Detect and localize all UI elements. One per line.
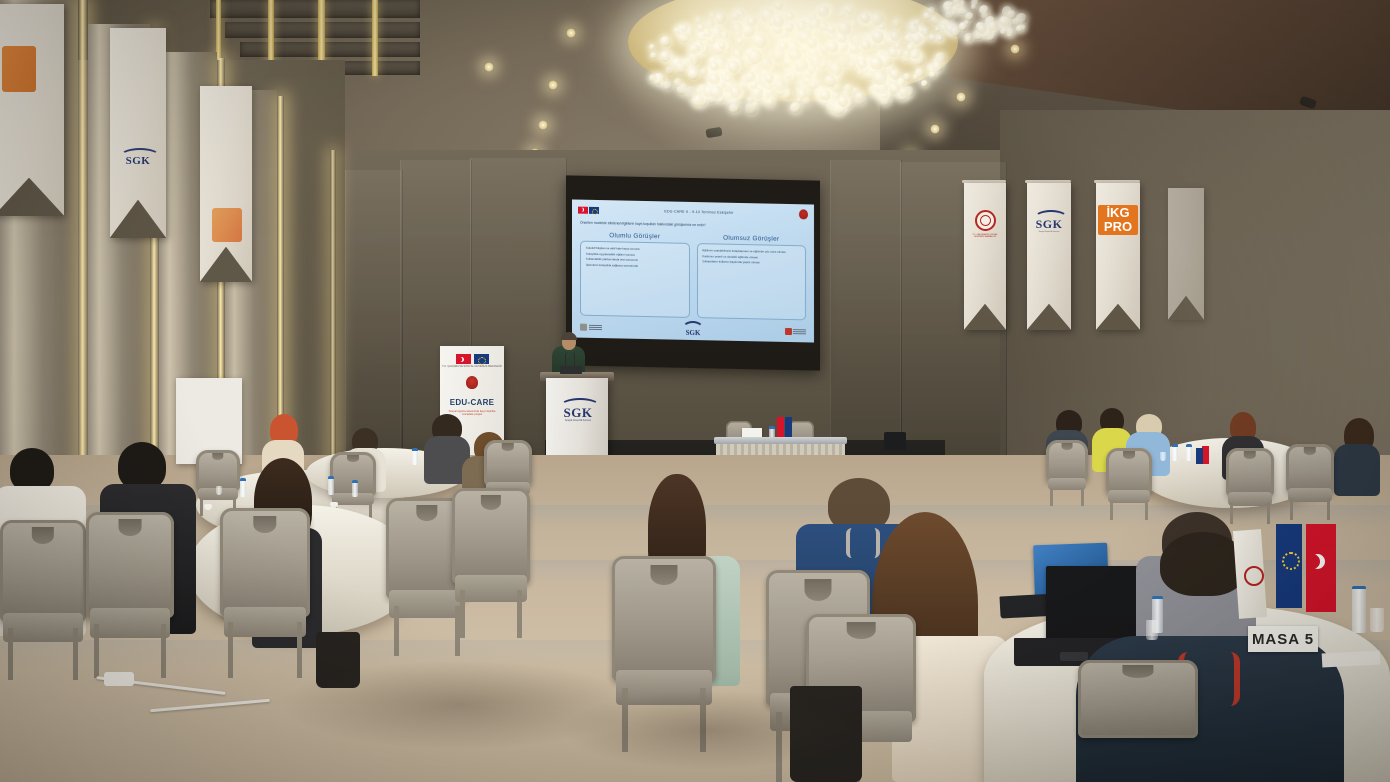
logo-text-lines <box>589 324 602 329</box>
chandelier-bulb <box>796 97 803 104</box>
ceiling-gold-strip <box>372 0 378 76</box>
chandelier-bulb <box>710 62 719 71</box>
turkish-desk-flag <box>777 417 784 439</box>
turkish-desk-flag <box>1202 446 1209 464</box>
slide-bullet-box: Kolektif bilgilenme aktif hale kayıp son… <box>580 241 690 318</box>
chandelier-bulb <box>748 50 762 64</box>
slide-footer-left-logo <box>580 323 602 330</box>
rollup-caption: T.C. ÇALIŞMA VE SOSYAL GÜVENLİK BAKANLIĞ… <box>442 366 502 369</box>
slide-emblem-icon <box>799 209 808 219</box>
slide-question: Önerilen modelde etkilenen/ilgililerin k… <box>580 221 806 230</box>
sgk-footer-text: SGK <box>686 329 701 337</box>
chandelier-bulb <box>725 76 731 82</box>
chandelier-bulb <box>753 34 767 48</box>
hanging-banner-sgk: SGK Sosyal Güvenlik Kurumu <box>1027 183 1071 330</box>
slide-column-negative: Olumsuz Görüşler Eğitimin uzatılabilmesi… <box>697 234 807 320</box>
slide-column-heading: Olumsuz Görüşler <box>697 234 807 243</box>
pillar-light-strip <box>330 150 336 470</box>
chandelier-bulb <box>872 31 884 43</box>
slide-bullet-box: Eğitimin uzatılabilmesi kolaylaşması ve … <box>697 243 807 320</box>
banquet-chair <box>1078 660 1198 782</box>
slide-columns: Olumlu Görüşler Kolektif bilgilenme akti… <box>580 232 806 321</box>
sgk-mark: SGK <box>120 148 156 166</box>
chandelier-bulb <box>737 38 744 45</box>
rollup-flags <box>456 354 489 364</box>
attendee-torso <box>1334 444 1380 496</box>
slide-header: EDU-CARE II - 9-10 Temmuz Eskişehir <box>578 204 808 221</box>
presentation-slide: EDU-CARE II - 9-10 Temmuz Eskişehir Öner… <box>572 199 814 342</box>
chandelier-bulb <box>704 30 712 38</box>
chandelier-bulb <box>929 71 936 78</box>
chandelier-bulb <box>745 72 756 83</box>
chandelier-bulb <box>848 61 856 69</box>
chandelier-bulb <box>861 40 871 50</box>
conference-hall-photo: SGK T.C. ÇALIŞMA VE SOSYAL GÜVENLİK BAKA… <box>0 0 1390 782</box>
chandelier-bulb <box>870 57 883 70</box>
floor-shadow <box>560 690 860 770</box>
table-sign-label: MASA 5 <box>1252 631 1314 648</box>
logo-text-lines <box>793 329 806 334</box>
chandelier-bulb <box>674 78 683 87</box>
chandelier-bulb <box>838 22 851 35</box>
chandelier-bulb <box>779 42 788 51</box>
turkish-flag-icon <box>456 354 471 364</box>
water-bottle <box>1352 586 1366 633</box>
drinking-glass <box>1370 608 1384 632</box>
slide-bullet: Çalışanların kullanıcı kaydında yapılır … <box>703 259 802 266</box>
ministry-emblem-icon <box>466 376 478 389</box>
drinking-glass <box>216 486 222 495</box>
chandelier-bulb <box>790 102 801 113</box>
chandelier-bulb <box>681 25 688 32</box>
chandelier-bulb <box>786 73 792 79</box>
power-adapter <box>104 672 134 686</box>
turkish-flag-crescent-icon <box>1310 554 1325 569</box>
water-bottle <box>240 478 246 497</box>
eu-flag-stars-icon <box>1282 552 1300 570</box>
banquet-chair <box>86 512 174 678</box>
chandelier-bulb <box>750 81 758 89</box>
chandelier-bulb <box>719 42 725 48</box>
chandelier-bulb <box>839 11 846 18</box>
wall-panel <box>345 170 403 470</box>
slide-bullet: İşlemlerin kolaylıkla sağlama sonrasında <box>586 262 685 269</box>
drinking-glass <box>1160 452 1166 461</box>
chandelier-bulb <box>950 26 961 37</box>
water-bottle <box>1172 444 1178 461</box>
chandelier-bulb <box>747 96 754 103</box>
sgk-banner-caption: Sosyal Güvenlik Kurumu <box>1034 231 1064 233</box>
chandelier-bulb <box>688 68 699 79</box>
eu-desk-flag <box>1196 448 1203 464</box>
banquet-chair <box>220 508 310 678</box>
water-bottle <box>328 476 334 495</box>
chandelier-bulb <box>761 58 773 70</box>
ikg-pro-logo: İKG PRO <box>1098 205 1138 235</box>
hanging-banner-left-ikg <box>0 4 64 216</box>
sgk-banner-logo: SGK <box>1034 218 1064 230</box>
head-table-top <box>714 437 847 444</box>
chandelier-bulb <box>838 96 849 107</box>
water-bottle <box>352 480 358 497</box>
water-bottle <box>412 448 418 465</box>
attendee-lanyard <box>846 528 880 558</box>
ministry-emblem-icon <box>975 210 996 231</box>
chandelier-bulb <box>700 68 708 76</box>
ceiling-coffer <box>240 42 420 57</box>
ministry-banner-caption: T.C. ÇALIŞMA VE SOSYAL GÜVENLİK BAKANLIĞ… <box>967 234 1003 239</box>
eu-desk-flag <box>785 417 792 439</box>
chandelier-bulb <box>665 66 674 75</box>
rollup-title: EDU-CARE <box>450 398 495 407</box>
chandelier-bulb <box>981 12 988 19</box>
banquet-chair <box>196 450 240 516</box>
attendee-hair <box>118 442 166 490</box>
chandelier-bulb <box>927 7 936 16</box>
slide-bullet-list: Kolektif bilgilenme aktif hale kayıp son… <box>586 246 685 269</box>
water-bottle <box>1186 444 1192 461</box>
banquet-chair <box>0 520 86 680</box>
slide-flags <box>578 206 599 213</box>
chandelier-bulb <box>827 25 836 34</box>
wall-panel <box>830 160 902 460</box>
chandelier-bulb <box>824 75 836 87</box>
secondary-chandelier <box>905 0 1035 70</box>
chandelier-bulb <box>807 38 817 48</box>
chandelier-bulb <box>871 13 883 25</box>
chandelier-bulb <box>931 16 939 24</box>
slide-header-title: EDU-CARE II - 9-10 Temmuz Eskişehir <box>664 209 733 214</box>
chandelier-bulb <box>766 98 774 106</box>
banquet-chair <box>452 488 530 638</box>
chandelier-bulb <box>971 4 977 10</box>
ministry-logo-icon <box>580 323 587 330</box>
chandelier-bulb <box>965 12 975 22</box>
ikg-logo-line2: PRO <box>1104 220 1132 234</box>
chandelier-bulb <box>908 24 918 34</box>
chandelier-bulb <box>689 44 699 54</box>
slide-bullet-list: Eğitimin uzatılabilmesi kolaylaşması ve … <box>703 248 802 266</box>
slide-footer-sgk-logo: SGK <box>682 321 704 337</box>
podium-logo-subtext: Sosyal Güvenlik Kurumu <box>560 419 596 422</box>
chandelier-bulb <box>818 6 829 17</box>
hanging-banner-ministry: T.C. ÇALIŞMA VE SOSYAL GÜVENLİK BAKANLIĞ… <box>964 183 1006 330</box>
chandelier-bulb <box>964 33 973 42</box>
hanging-banner-ikg: İKG PRO <box>1096 183 1140 330</box>
ceiling-spotlight <box>548 80 558 90</box>
chandelier-bulb <box>951 10 957 16</box>
turkish-flag-icon <box>578 206 588 213</box>
chandelier-bulb <box>820 90 831 101</box>
ceiling-spotlight <box>484 62 494 72</box>
chandelier-bulb <box>921 27 930 36</box>
chandelier-bulb <box>830 63 842 75</box>
chandelier-bulb <box>729 103 740 114</box>
laptop-screen-front[interactable] <box>1046 566 1146 642</box>
eu-flag-icon <box>589 206 599 213</box>
chandelier-bulb <box>892 19 901 28</box>
slide-footer: SGK <box>580 320 806 339</box>
ministry-flag-emblem-icon <box>1244 566 1264 586</box>
chandelier-bulb <box>850 20 858 28</box>
ikg-logo-line1: İKG <box>1106 206 1129 220</box>
banquet-chair <box>1046 440 1088 506</box>
banquet-chair <box>1226 448 1274 524</box>
chandelier-bulb <box>850 45 859 54</box>
slide-column-heading: Olumlu Görüşler <box>580 232 690 241</box>
drinking-glass <box>1146 620 1158 640</box>
project-logo-icon <box>785 327 792 334</box>
pillar-light-strip <box>78 0 88 470</box>
speaker-monitor <box>884 432 906 450</box>
chandelier-bulb <box>773 49 785 61</box>
chandelier-bulb <box>935 27 941 33</box>
hanging-banner-left-ministry <box>200 86 252 282</box>
eu-flag-icon <box>474 354 489 364</box>
chandelier-bulb <box>921 80 928 87</box>
ceiling-coffer <box>210 0 420 18</box>
slide-column-positive: Olumlu Görüşler Kolektif bilgilenme akti… <box>580 232 690 318</box>
chandelier-bulb <box>1007 10 1016 19</box>
chandelier-bulb <box>1006 27 1014 35</box>
hanging-banner-left-sgk: SGK <box>110 28 166 238</box>
slide-footer-right-logo <box>785 327 807 334</box>
chandelier-bulb <box>890 69 901 80</box>
chandelier-bulb <box>730 86 742 98</box>
table-sign-masa-5: MASA 5 <box>1248 626 1318 652</box>
banquet-chair <box>1286 444 1334 520</box>
hanging-banner-far-right <box>1168 188 1204 320</box>
ministry-mark <box>212 208 242 242</box>
chandelier-bulb <box>775 80 786 91</box>
podium-laptop <box>560 366 582 374</box>
podium-logo-text: SGK <box>560 406 596 419</box>
chandelier-bulb <box>747 17 757 27</box>
podium-sgk-logo: SGK Sosyal Güvenlik Kurumu <box>560 398 596 422</box>
chandelier-bulb <box>684 86 697 99</box>
banquet-chair <box>1106 448 1152 520</box>
ceiling-spotlight <box>538 120 548 130</box>
ikg-mark <box>2 46 36 92</box>
chandelier-bulb <box>873 71 887 85</box>
name-card <box>742 428 762 437</box>
projection-screen: EDU-CARE II - 9-10 Temmuz Eskişehir Öner… <box>566 175 820 370</box>
chandelier-bulb <box>858 60 867 69</box>
ceiling-spotlight <box>566 28 576 38</box>
